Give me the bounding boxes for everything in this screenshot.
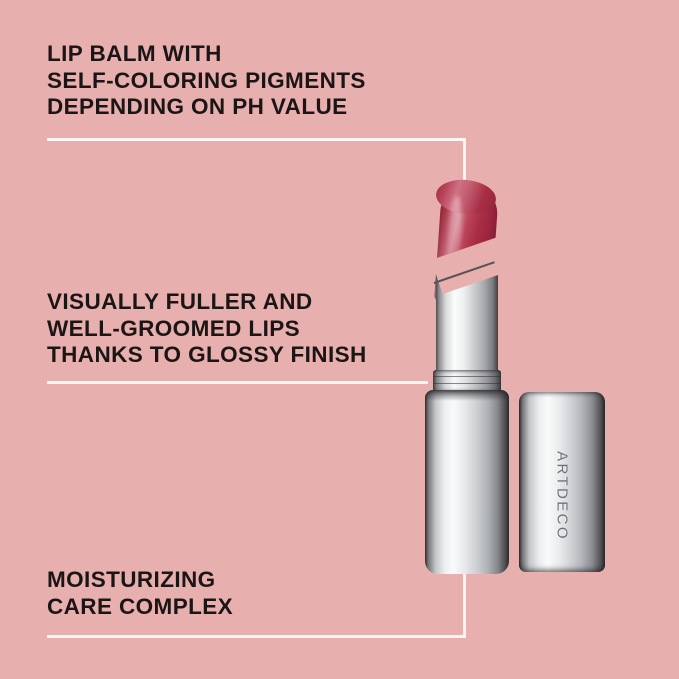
claim-1-rule-horizontal xyxy=(47,138,466,141)
lipstick-product xyxy=(417,186,523,574)
claim-text-fuller-lips: VISUALLY FULLER AND WELL-GROOMED LIPS TH… xyxy=(47,289,367,369)
claim-line: MOISTURIZING xyxy=(47,567,233,594)
claim-text-lip-balm-ph: LIP BALM WITH SELF-COLORING PIGMENTS DEP… xyxy=(47,41,366,121)
claim-2-rule-horizontal xyxy=(47,381,428,384)
lipstick-cap: ARTDECO xyxy=(519,392,605,572)
product-infographic: LIP BALM WITH SELF-COLORING PIGMENTS DEP… xyxy=(0,0,679,679)
claim-line: CARE COMPLEX xyxy=(47,594,233,621)
claim-3-rule-vertical xyxy=(463,570,466,638)
claim-line: LIP BALM WITH xyxy=(47,41,366,68)
lipstick-lower-barrel xyxy=(425,390,509,574)
lipstick-collar-ring xyxy=(433,370,501,392)
claim-3-rule-horizontal xyxy=(47,635,466,638)
claim-line: DEPENDING ON PH VALUE xyxy=(47,94,366,121)
lipstick-collar-groove xyxy=(433,383,501,384)
claim-line: WELL-GROOMED LIPS xyxy=(47,316,367,343)
brand-logo-artdeco: ARTDECO xyxy=(554,451,571,541)
claim-line: VISUALLY FULLER AND xyxy=(47,289,367,316)
lipstick-collar-groove xyxy=(433,376,501,377)
claim-line: THANKS TO GLOSSY FINISH xyxy=(47,342,367,369)
lipstick-lower-barrel-shadow xyxy=(425,390,509,401)
claim-line: SELF-COLORING PIGMENTS xyxy=(47,68,366,95)
claim-text-moisturizing: MOISTURIZING CARE COMPLEX xyxy=(47,567,233,620)
